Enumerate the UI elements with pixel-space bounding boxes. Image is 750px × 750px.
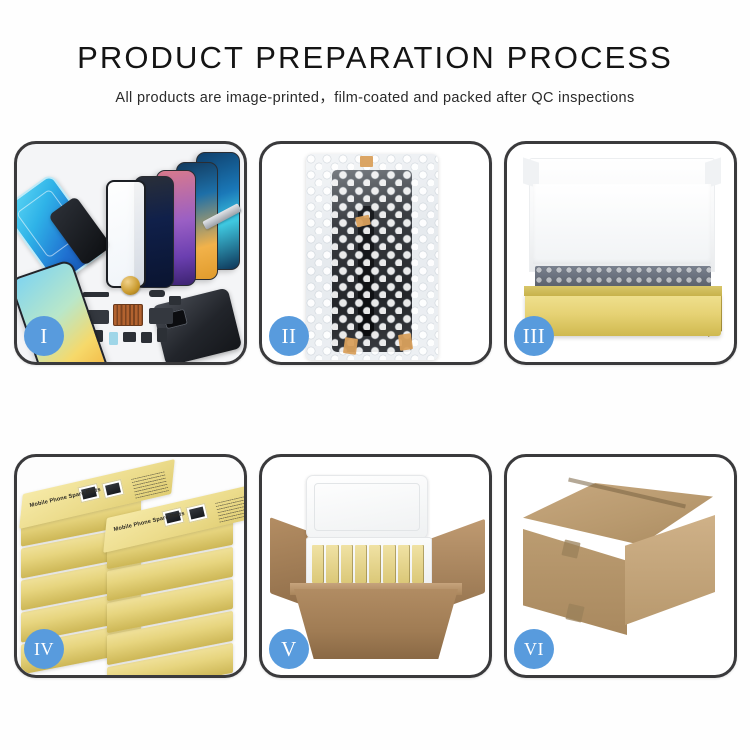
step-badge-6: VI [514, 629, 554, 669]
packed-box [412, 545, 424, 583]
step-badge-1: I [24, 316, 64, 356]
circuit-chip-icon [113, 304, 143, 326]
step-badge-5: V [269, 629, 309, 669]
process-step-2: II [259, 141, 492, 365]
yellow-box-front-icon [525, 294, 721, 336]
product-preparation-infographic: PRODUCT PREPARATION PROCESS All products… [0, 0, 750, 750]
page-subtitle: All products are image-printed，film-coat… [0, 75, 750, 107]
process-step-1: I [14, 141, 247, 365]
packed-box [369, 545, 381, 583]
packed-box [312, 545, 324, 583]
part-motor-icon [141, 332, 152, 343]
part-connector-icon [149, 290, 165, 297]
foam-sheet-icon [533, 184, 711, 264]
packed-box [326, 545, 338, 583]
process-step-3: III [504, 141, 737, 365]
packed-box [341, 545, 353, 583]
bubble-wrap-bag-icon [306, 154, 438, 360]
process-step-4: Mobile Phone Spare Parts Mobile Phone Sp… [14, 454, 247, 678]
speaker-coil-icon [121, 276, 140, 295]
header: PRODUCT PREPARATION PROCESS All products… [0, 0, 750, 107]
packed-boxes-row [312, 545, 424, 583]
part-camera-icon [123, 332, 136, 342]
step-badge-4: IV [24, 629, 64, 669]
part-lens-icon [109, 332, 118, 345]
tape-strip-top-icon [360, 156, 373, 167]
bubble-texture-icon [306, 154, 438, 360]
process-step-grid: I II [14, 141, 737, 682]
part-strip-icon [83, 292, 109, 297]
step-badge-3: III [514, 316, 554, 356]
part-button-icon [169, 296, 181, 305]
packed-box [355, 545, 367, 583]
packed-box [383, 545, 395, 583]
flex-cable-right-icon [149, 308, 173, 324]
packed-box [398, 545, 410, 583]
part-shield-icon [157, 328, 167, 342]
step-badge-2: II [269, 316, 309, 356]
carton-body-icon [294, 589, 458, 659]
tempered-glass-sheet-icon [106, 180, 146, 288]
foam-cooler-lid-icon [306, 475, 428, 539]
process-step-6: VI [504, 454, 737, 678]
tape-strip-bottom-left-icon [343, 337, 358, 355]
page-title: PRODUCT PREPARATION PROCESS [0, 0, 750, 75]
tape-strip-bottom-right-icon [398, 333, 413, 351]
process-step-5: V [259, 454, 492, 678]
